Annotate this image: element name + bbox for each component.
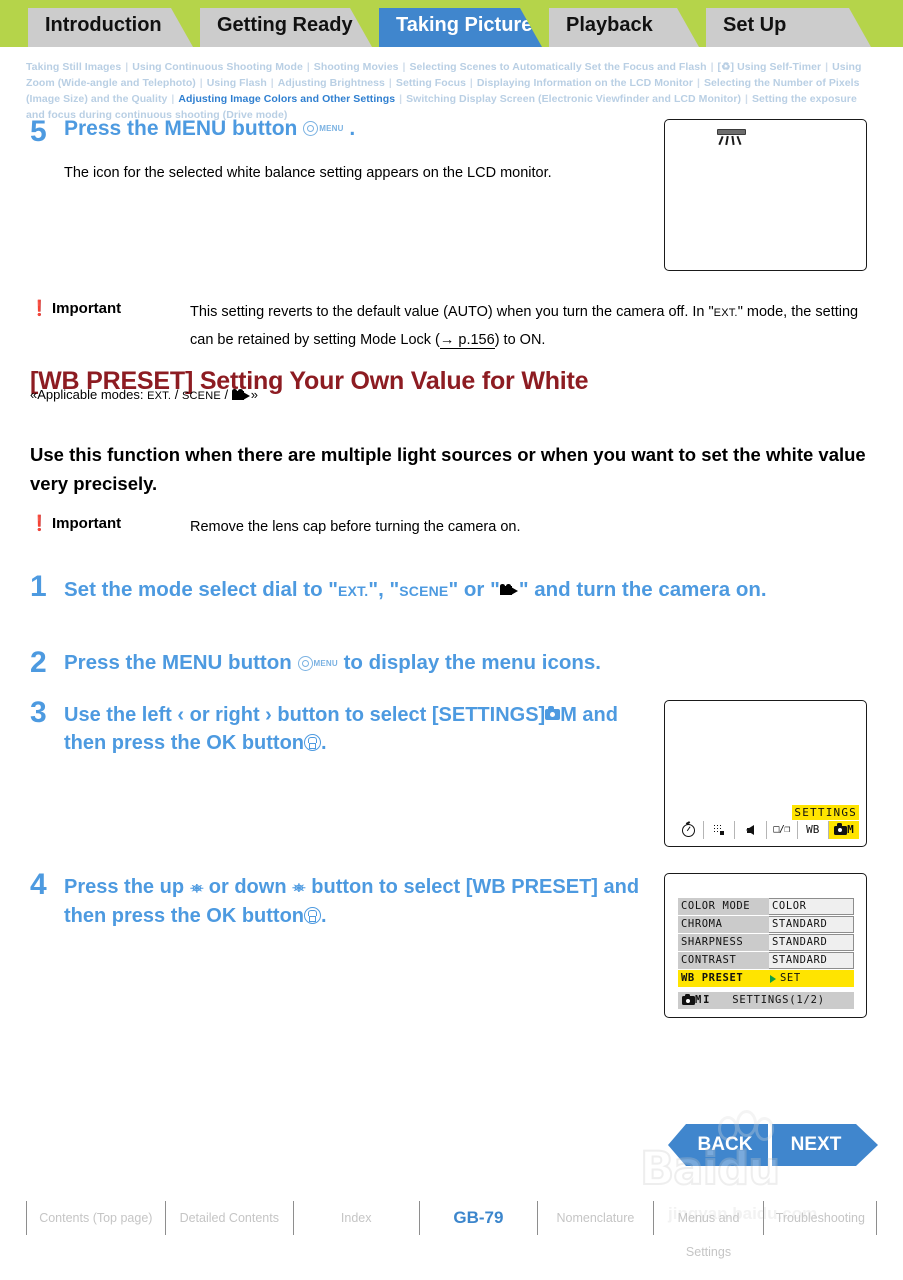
settings-menu-list: COLOR MODE COLOR CHROMA STANDARD SHARPNE… bbox=[678, 898, 854, 988]
fluorescent-lamp-icon bbox=[715, 129, 749, 147]
footer-link-menus-and-settings[interactable]: Menus and Settings bbox=[653, 1201, 764, 1235]
mode-ext-label: EXT. bbox=[338, 583, 368, 599]
lcd-screen-white-balance bbox=[664, 119, 867, 271]
camera-icon bbox=[545, 709, 560, 720]
footer-link-index[interactable]: Index bbox=[293, 1201, 419, 1235]
menu-row-label: COLOR MODE bbox=[678, 898, 769, 915]
camera-icon-bar: □/❐ WB M bbox=[673, 820, 859, 840]
tab-label: Playback bbox=[566, 14, 653, 36]
breadcrumb-link[interactable]: Displaying Information on the LCD Monito… bbox=[477, 77, 693, 89]
camera-icon bbox=[682, 996, 695, 1005]
settings-label-tag: SETTINGS bbox=[792, 805, 859, 820]
menu-row-value: STANDARD bbox=[769, 934, 854, 951]
step-3-text: Use the left ‹ or right › button to sele… bbox=[64, 701, 634, 757]
tab-label: Introduction bbox=[45, 14, 162, 36]
tab-playback[interactable]: Playback bbox=[549, 8, 699, 47]
flash-icon[interactable] bbox=[735, 821, 766, 839]
footer-link-troubleshooting[interactable]: Troubleshooting bbox=[763, 1201, 876, 1235]
tab-label: Set Up bbox=[723, 14, 786, 36]
breadcrumb-link[interactable]: Using Flash bbox=[207, 77, 267, 89]
back-button[interactable]: BACK bbox=[668, 1124, 768, 1166]
lcd-screen-settings-menu: COLOR MODE COLOR CHROMA STANDARD SHARPNE… bbox=[664, 873, 867, 1018]
tab-set-up[interactable]: Set Up bbox=[706, 8, 871, 47]
important-bullet-icon: ❗ bbox=[30, 299, 49, 317]
tab-taking-pictures[interactable]: Taking Pictures bbox=[379, 8, 542, 47]
section-intro-text: Use this function when there are multipl… bbox=[30, 440, 880, 498]
footer-link-contents[interactable]: Contents (Top page) bbox=[26, 1201, 165, 1235]
mode-scene-label: SCENE bbox=[399, 583, 448, 599]
drive-mode-icon[interactable]: □/❐ bbox=[767, 821, 798, 839]
breadcrumb-link[interactable]: Shooting Movies bbox=[314, 61, 399, 73]
breadcrumb-link[interactable]: Using Continuous Shooting Mode bbox=[132, 61, 303, 73]
breadcrumb-link-current[interactable]: Adjusting Image Colors and Other Setting… bbox=[178, 93, 395, 105]
step-1-number: 1 bbox=[30, 572, 47, 602]
settings-icon[interactable]: M bbox=[829, 821, 859, 839]
footer-page-number: GB-79 bbox=[419, 1201, 538, 1235]
menu-row-selected[interactable]: WB PRESET SET bbox=[678, 970, 854, 987]
menu-row-value: STANDARD bbox=[769, 916, 854, 933]
tab-getting-ready[interactable]: Getting Ready bbox=[200, 8, 372, 47]
self-timer-icon[interactable] bbox=[673, 821, 704, 839]
manual-page: { "tabs": [ {"label": "Introduction", "a… bbox=[0, 0, 903, 1280]
left-arrow-icon: ‹ bbox=[177, 704, 184, 726]
important-text-2: Remove the lens cap before turning the c… bbox=[190, 514, 790, 541]
step-4-number: 4 bbox=[30, 870, 47, 900]
footer-link-nomenclature[interactable]: Nomenclature bbox=[537, 1201, 652, 1235]
important-text-1: This setting reverts to the default valu… bbox=[190, 299, 880, 354]
mode-scene-label: SCENE bbox=[182, 390, 221, 402]
menu-row-value: SET bbox=[769, 970, 854, 987]
breadcrumb-link[interactable]: Selecting Scenes to Automatically Set th… bbox=[409, 61, 706, 73]
menu-row[interactable]: COLOR MODE COLOR bbox=[678, 898, 854, 915]
step-5-number: 5 bbox=[30, 117, 47, 147]
step-1-text: Set the mode select dial to "EXT.", "SCE… bbox=[64, 574, 874, 607]
step-4-text: Press the up ⎈ or down ⎈ button to selec… bbox=[64, 873, 644, 930]
tab-introduction[interactable]: Introduction bbox=[28, 8, 193, 47]
step-2-text: Press the MENU button MENU to display th… bbox=[64, 651, 601, 676]
up-arrow-icon: ⎈ bbox=[190, 879, 204, 896]
breadcrumb-link[interactable]: Switching Display Screen (Electronic Vie… bbox=[406, 93, 741, 105]
breadcrumb-link[interactable]: Taking Still Images bbox=[26, 61, 121, 73]
applicable-modes: «Applicable modes: EXT. / SCENE / » bbox=[30, 387, 258, 402]
ok-button-icon bbox=[304, 734, 321, 751]
breadcrumb-link[interactable]: [♻] Using Self-Timer bbox=[718, 61, 822, 73]
white-balance-icon[interactable]: WB bbox=[798, 821, 829, 839]
picture-quality-icon[interactable] bbox=[704, 821, 735, 839]
page-navigation: BACK NEXT bbox=[668, 1124, 878, 1166]
footer-nav: Contents (Top page) Detailed Contents In… bbox=[26, 1198, 878, 1238]
important-bullet-icon: ❗ bbox=[30, 514, 49, 532]
breadcrumb-link[interactable]: Setting Focus bbox=[396, 77, 466, 89]
step-5-title-period: . bbox=[349, 117, 355, 140]
step-5-title: Press the MENU button MENU . bbox=[64, 117, 355, 141]
menu-button-icon: MENU bbox=[298, 651, 338, 675]
breadcrumb-link[interactable]: Adjusting Brightness bbox=[278, 77, 385, 89]
step-3-number: 3 bbox=[30, 698, 47, 728]
menu-row[interactable]: CHROMA STANDARD bbox=[678, 916, 854, 933]
lcd-screen-menu-icons: SETTINGS □/❐ WB M bbox=[664, 700, 867, 847]
menu-row[interactable]: SHARPNESS STANDARD bbox=[678, 934, 854, 951]
important-label-2: Important bbox=[52, 515, 121, 532]
tab-label: Getting Ready bbox=[217, 14, 353, 36]
breadcrumb: Taking Still Images | Using Continuous S… bbox=[26, 59, 871, 123]
menu-row-value: COLOR bbox=[769, 898, 854, 915]
important-label-1: Important bbox=[52, 300, 121, 317]
step-5-body: The icon for the selected white balance … bbox=[64, 160, 624, 187]
down-arrow-icon: ⎈ bbox=[292, 879, 306, 896]
footer-link-detailed-contents[interactable]: Detailed Contents bbox=[165, 1201, 293, 1235]
menu-row-label: SHARPNESS bbox=[678, 934, 769, 951]
menu-row-label: WB PRESET bbox=[678, 970, 769, 987]
menu-row-value: STANDARD bbox=[769, 952, 854, 969]
menu-button-icon: MENU bbox=[303, 116, 343, 140]
mode-ext-label: EXT. bbox=[714, 307, 738, 319]
footer-divider bbox=[876, 1201, 878, 1235]
page-reference-link[interactable]: → p.156 bbox=[440, 332, 495, 349]
menu-row[interactable]: CONTRAST STANDARD bbox=[678, 952, 854, 969]
right-arrow-icon: › bbox=[265, 704, 272, 726]
main-tab-bar: Introduction Getting Ready Taking Pictur… bbox=[0, 0, 903, 47]
mode-ext-label: EXT. bbox=[147, 390, 171, 402]
menu-row-label: CHROMA bbox=[678, 916, 769, 933]
settings-menu-footer: MISETTINGS(1/2) bbox=[678, 992, 854, 1009]
menu-row-label: CONTRAST bbox=[678, 952, 769, 969]
step-2-number: 2 bbox=[30, 648, 47, 678]
step-5-title-text: Press the MENU button bbox=[64, 117, 297, 140]
movie-camera-icon bbox=[232, 389, 251, 401]
next-button[interactable]: NEXT bbox=[772, 1124, 878, 1166]
ok-button-icon bbox=[304, 907, 321, 924]
movie-camera-icon bbox=[500, 584, 519, 596]
tab-label: Taking Pictures bbox=[396, 14, 543, 36]
